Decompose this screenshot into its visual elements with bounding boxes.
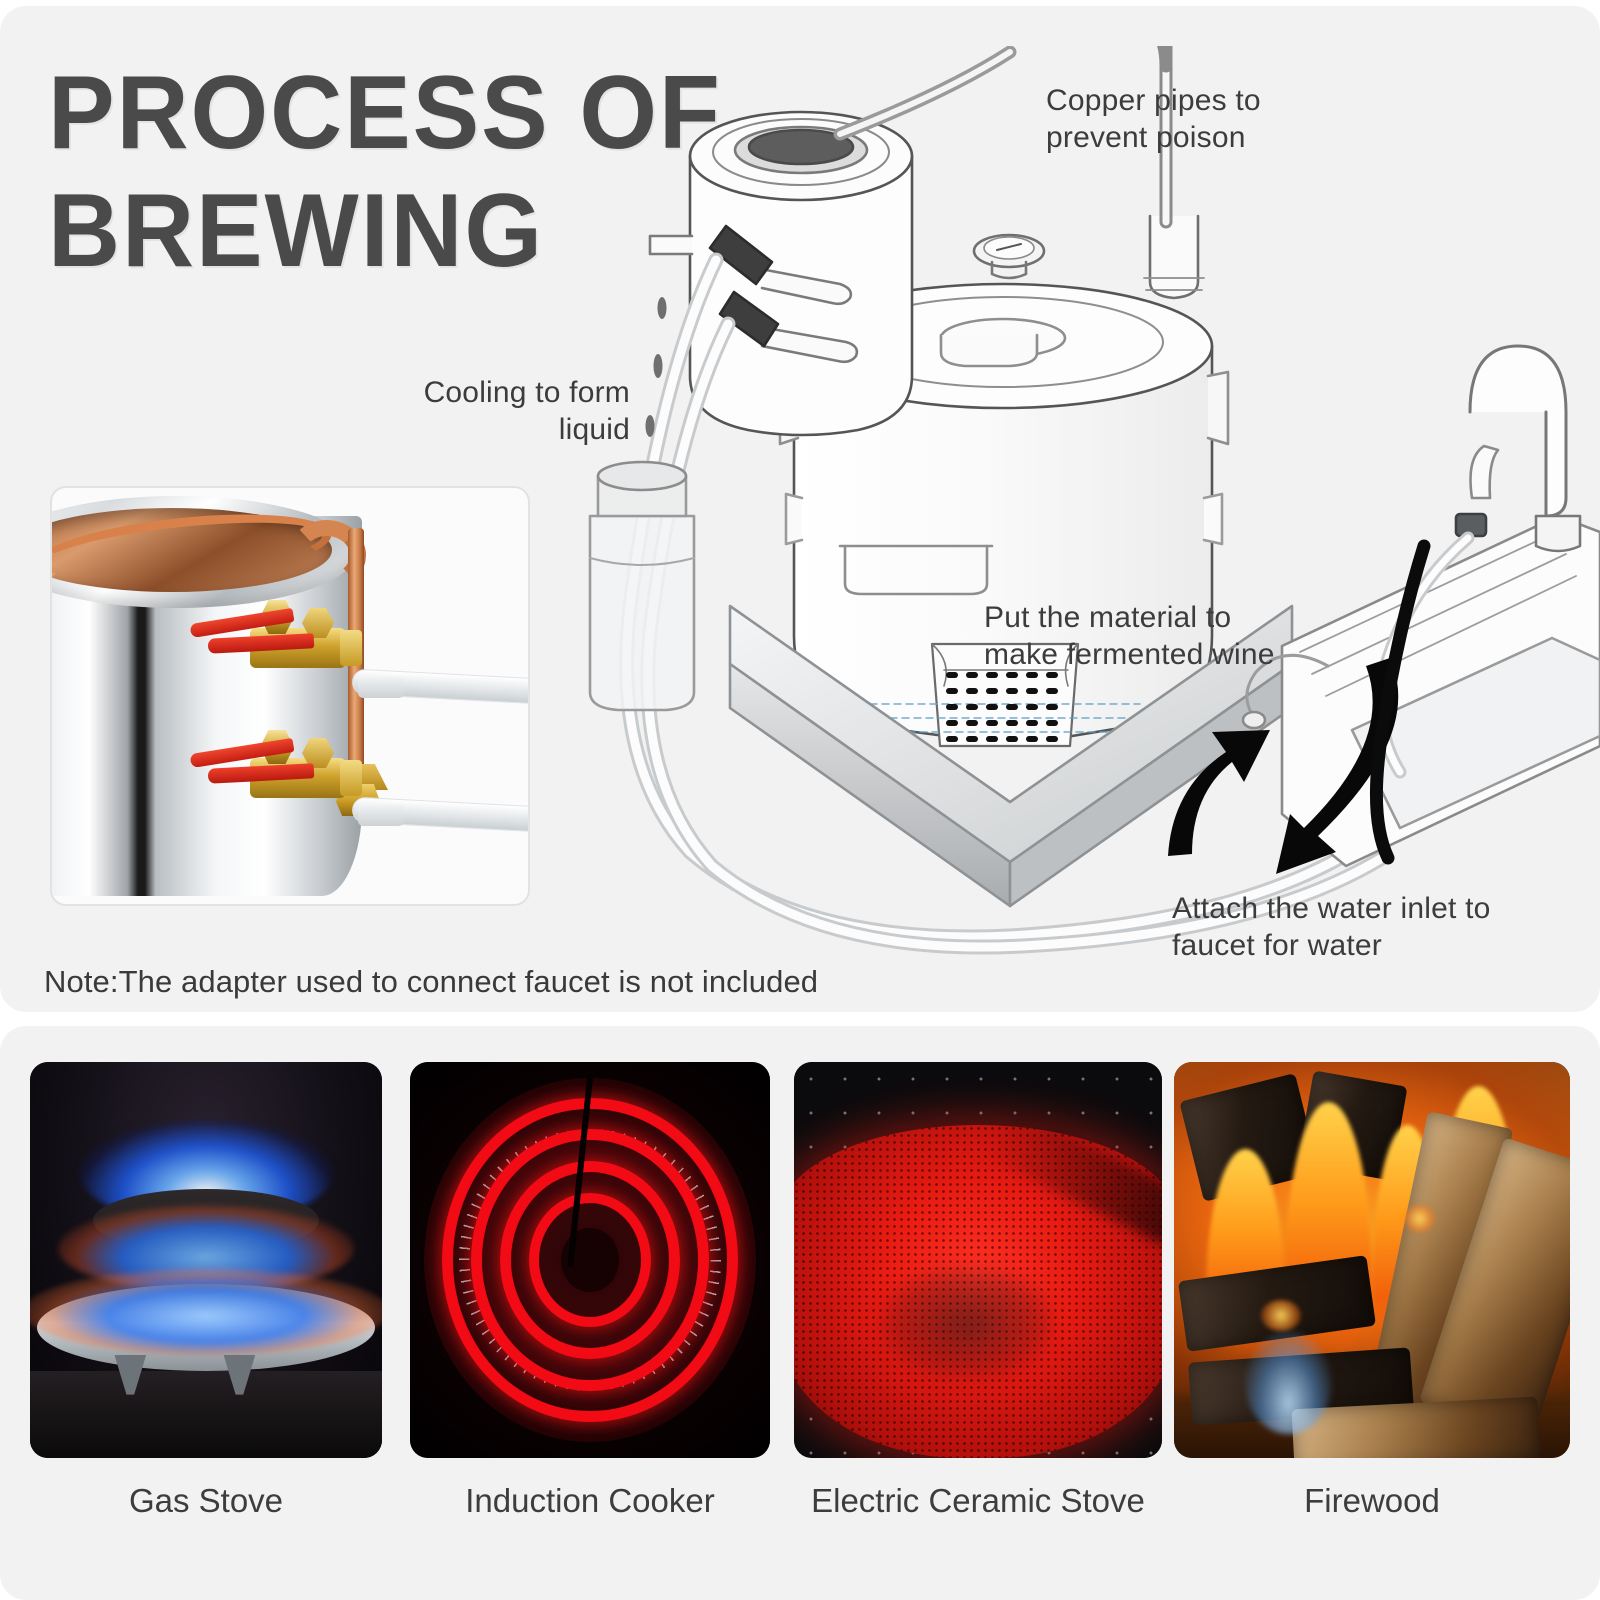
caption-induction-cooker: Induction Cooker — [410, 1482, 770, 1520]
stove-grate — [30, 1371, 382, 1458]
ball-valve-lower — [194, 736, 384, 814]
valve-ferrule — [340, 760, 362, 796]
valve-detail-photo — [50, 486, 530, 906]
callout-cooling: Cooling to form liquid — [330, 374, 630, 448]
still-diagram — [540, 46, 1600, 976]
plate-shadow — [882, 1268, 1051, 1379]
tile-induction-cooker[interactable] — [410, 1062, 770, 1458]
process-panel: PROCESS OF BREWING — [0, 6, 1600, 1012]
gas-stove-photo — [30, 1062, 382, 1458]
induction-cooker-photo — [410, 1062, 770, 1458]
tile-electric-ceramic-stove[interactable] — [794, 1062, 1162, 1458]
tile-gas-stove[interactable] — [30, 1062, 382, 1458]
caption-gas-stove: Gas Stove — [30, 1482, 382, 1520]
blue-flame-icon — [1245, 1331, 1332, 1434]
flame-icon — [30, 1268, 382, 1355]
heat-source-tiles: Gas Stove Induction Cooker Electric Cera… — [0, 1026, 1600, 1600]
note-body: The adapter used to connect faucet is no… — [119, 964, 819, 999]
caption-firewood: Firewood — [1174, 1482, 1570, 1520]
ball-valve-upper — [194, 606, 384, 684]
tile-firewood[interactable] — [1174, 1062, 1570, 1458]
infographic-page: PROCESS OF BREWING — [0, 0, 1600, 1600]
callout-attach-water-inlet: Attach the water inlet to faucet for wat… — [1172, 890, 1572, 964]
ember — [1261, 1300, 1301, 1332]
caption-electric-ceramic-stove: Electric Ceramic Stove — [794, 1482, 1162, 1520]
callout-put-material: Put the material to make fermented wine — [984, 599, 1275, 673]
ceramic-stove-photo — [794, 1062, 1162, 1458]
valve-ferrule — [340, 630, 362, 666]
note-prefix: Note: — [44, 964, 119, 999]
note-text: Note:The adapter used to connect faucet … — [44, 964, 818, 1000]
callout-copper-pipes: Copper pipes to prevent poison — [1046, 82, 1261, 156]
firewood-photo — [1174, 1062, 1570, 1458]
